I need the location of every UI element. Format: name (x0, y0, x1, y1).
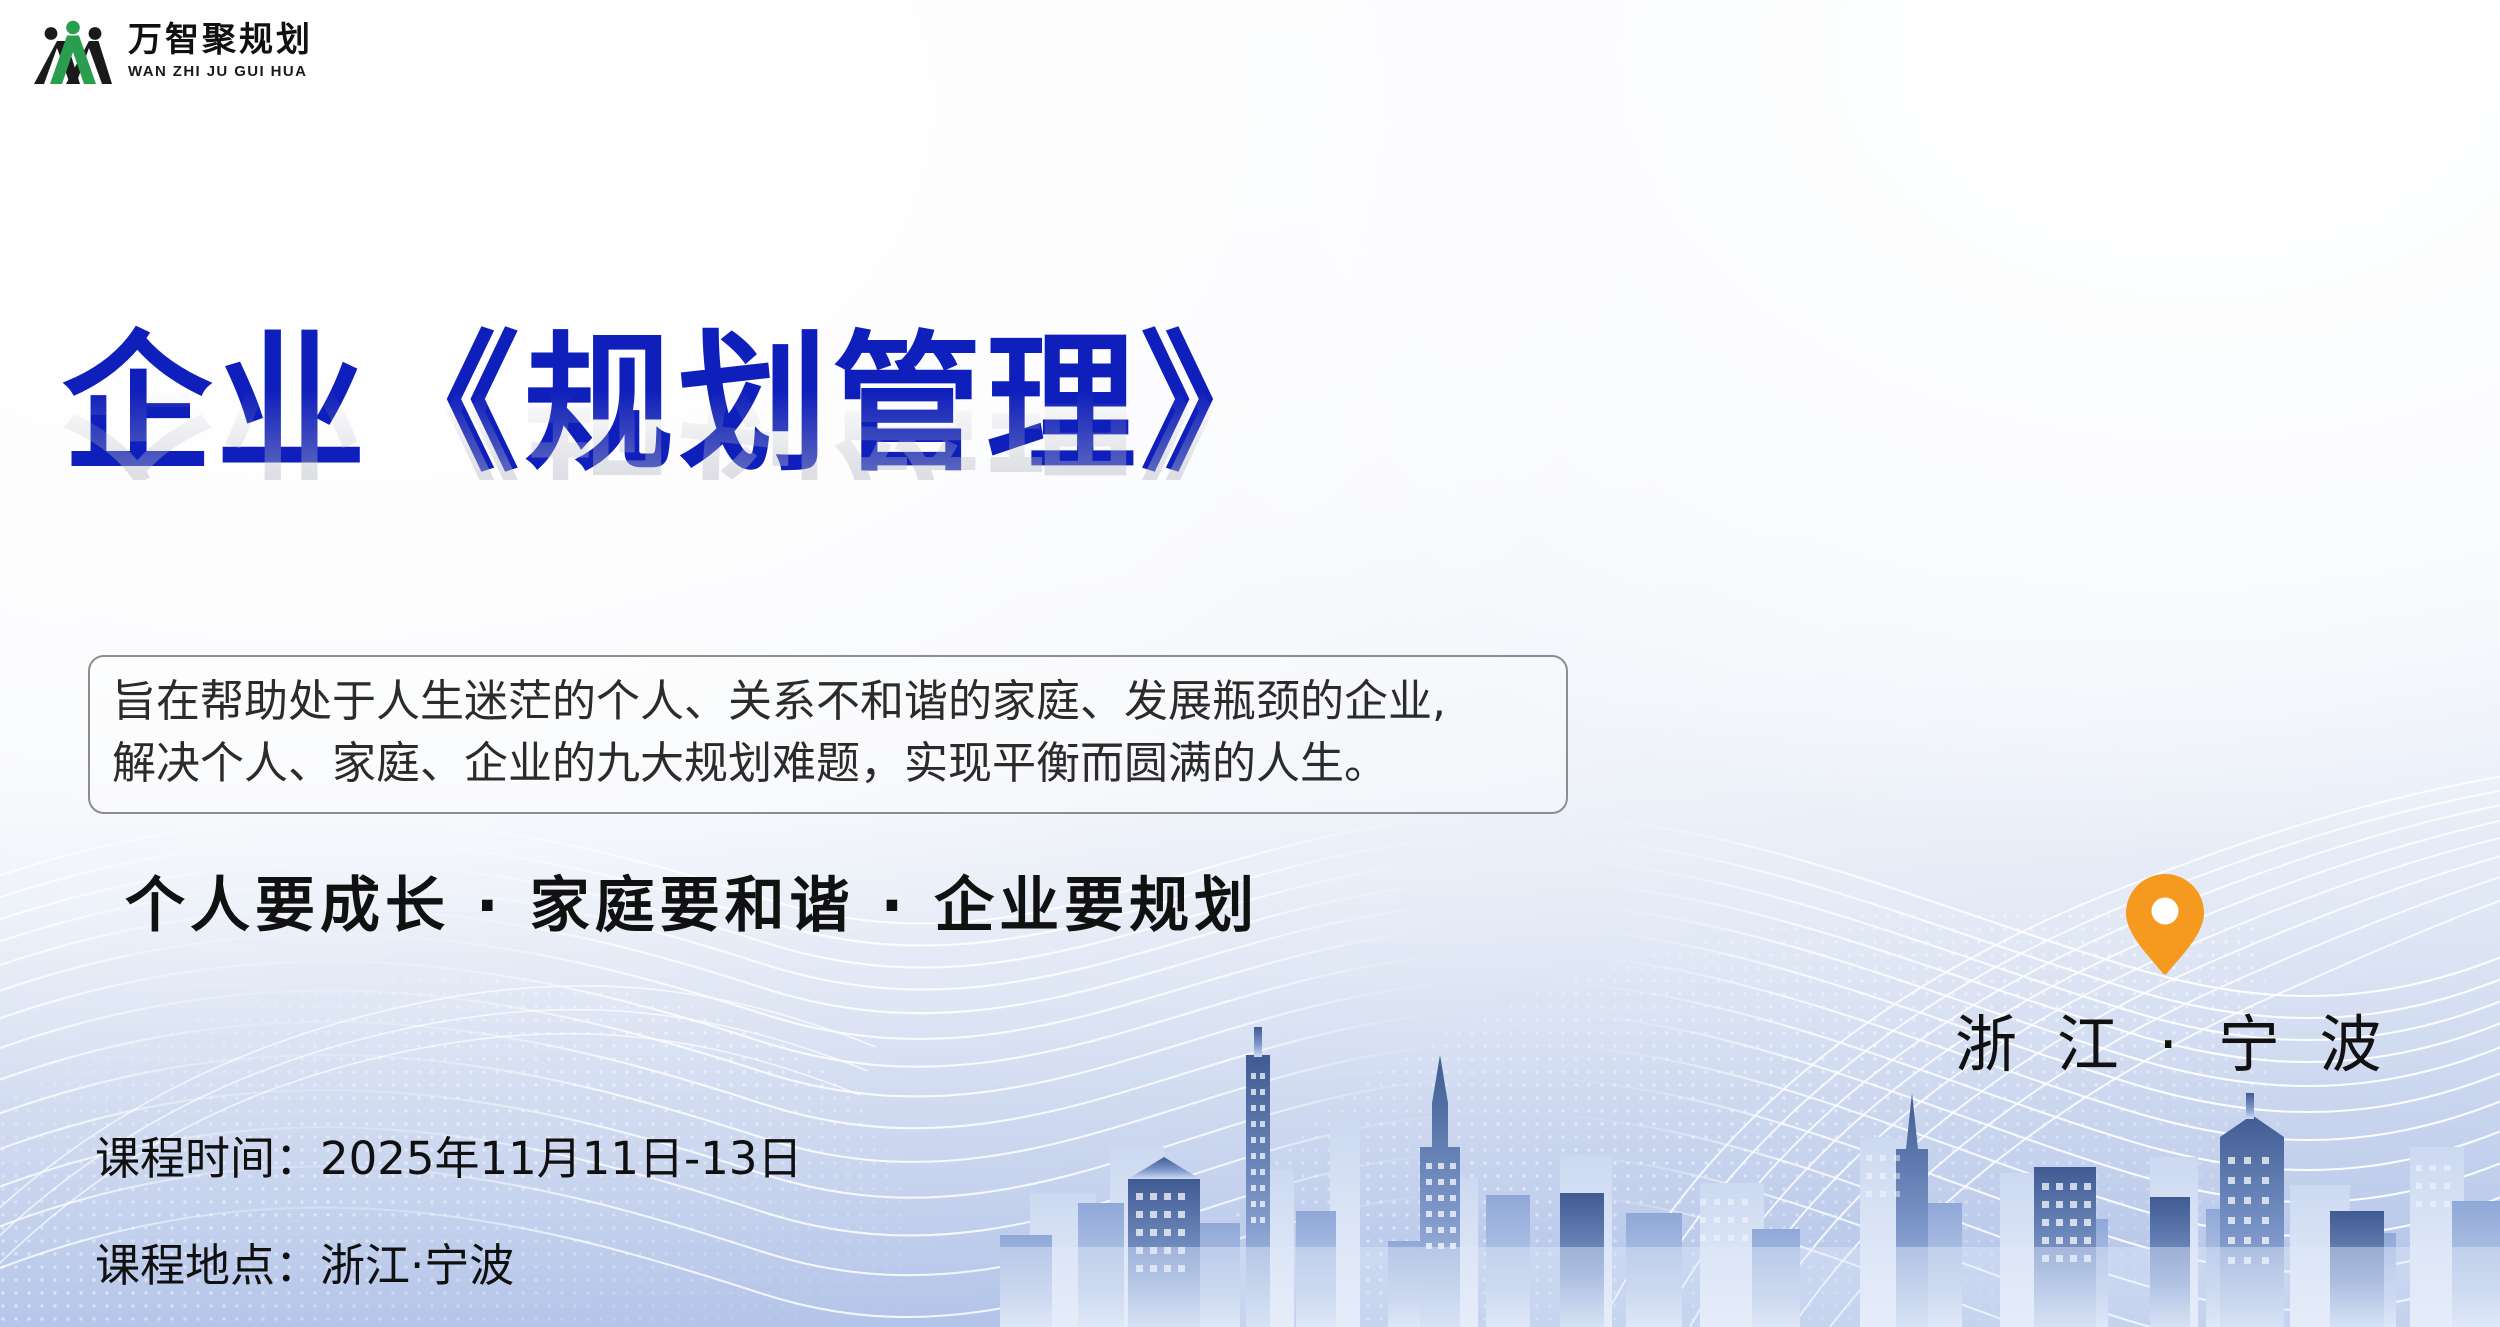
description-box: 旨在帮助处于人生迷茫的个人、关系不和谐的家庭、发展瓶颈的企业, 解决个人、家庭、… (88, 655, 1568, 814)
slogan-text: 个人要成长 · 家庭要和谐 · 企业要规划 (125, 857, 1259, 944)
course-info: 课程时间：2025年11月11日-13日 课程地点：浙江·宁波 (95, 1122, 803, 1327)
poster-root: 万智聚规划 WAN ZHI JU GUI HUA 企业《规划管理》 企业《规划管… (0, 0, 2500, 1327)
title-block: 企业《规划管理》 企业《规划管理》 (62, 330, 1294, 576)
description-line-1: 旨在帮助处于人生迷茫的个人、关系不和谐的家庭、发展瓶颈的企业, (112, 671, 1544, 733)
brand-name-pinyin: WAN ZHI JU GUI HUA (128, 64, 313, 79)
description-line-2: 解决个人、家庭、企业的九大规划难题，实现平衡而圆满的人生。 (112, 733, 1544, 795)
course-place-row: 课程地点：浙江·宁波 (95, 1229, 803, 1294)
location-block: 浙 江 · 宁 波 (1955, 872, 2375, 1084)
map-pin-icon (2123, 872, 2207, 976)
brand-wordmark: 万智聚规划 WAN ZHI JU GUI HUA (128, 24, 313, 79)
brand-logo: 万智聚规划 WAN ZHI JU GUI HUA (34, 16, 313, 86)
title-reflection: 企业《规划管理》 (62, 384, 1294, 480)
course-time-row: 课程时间：2025年11月11日-13日 (95, 1122, 803, 1187)
location-name: 浙 江 · 宁 波 (1955, 994, 2375, 1084)
brand-name-cn: 万智聚规划 (128, 24, 313, 58)
three-people-logo-icon (34, 16, 112, 86)
